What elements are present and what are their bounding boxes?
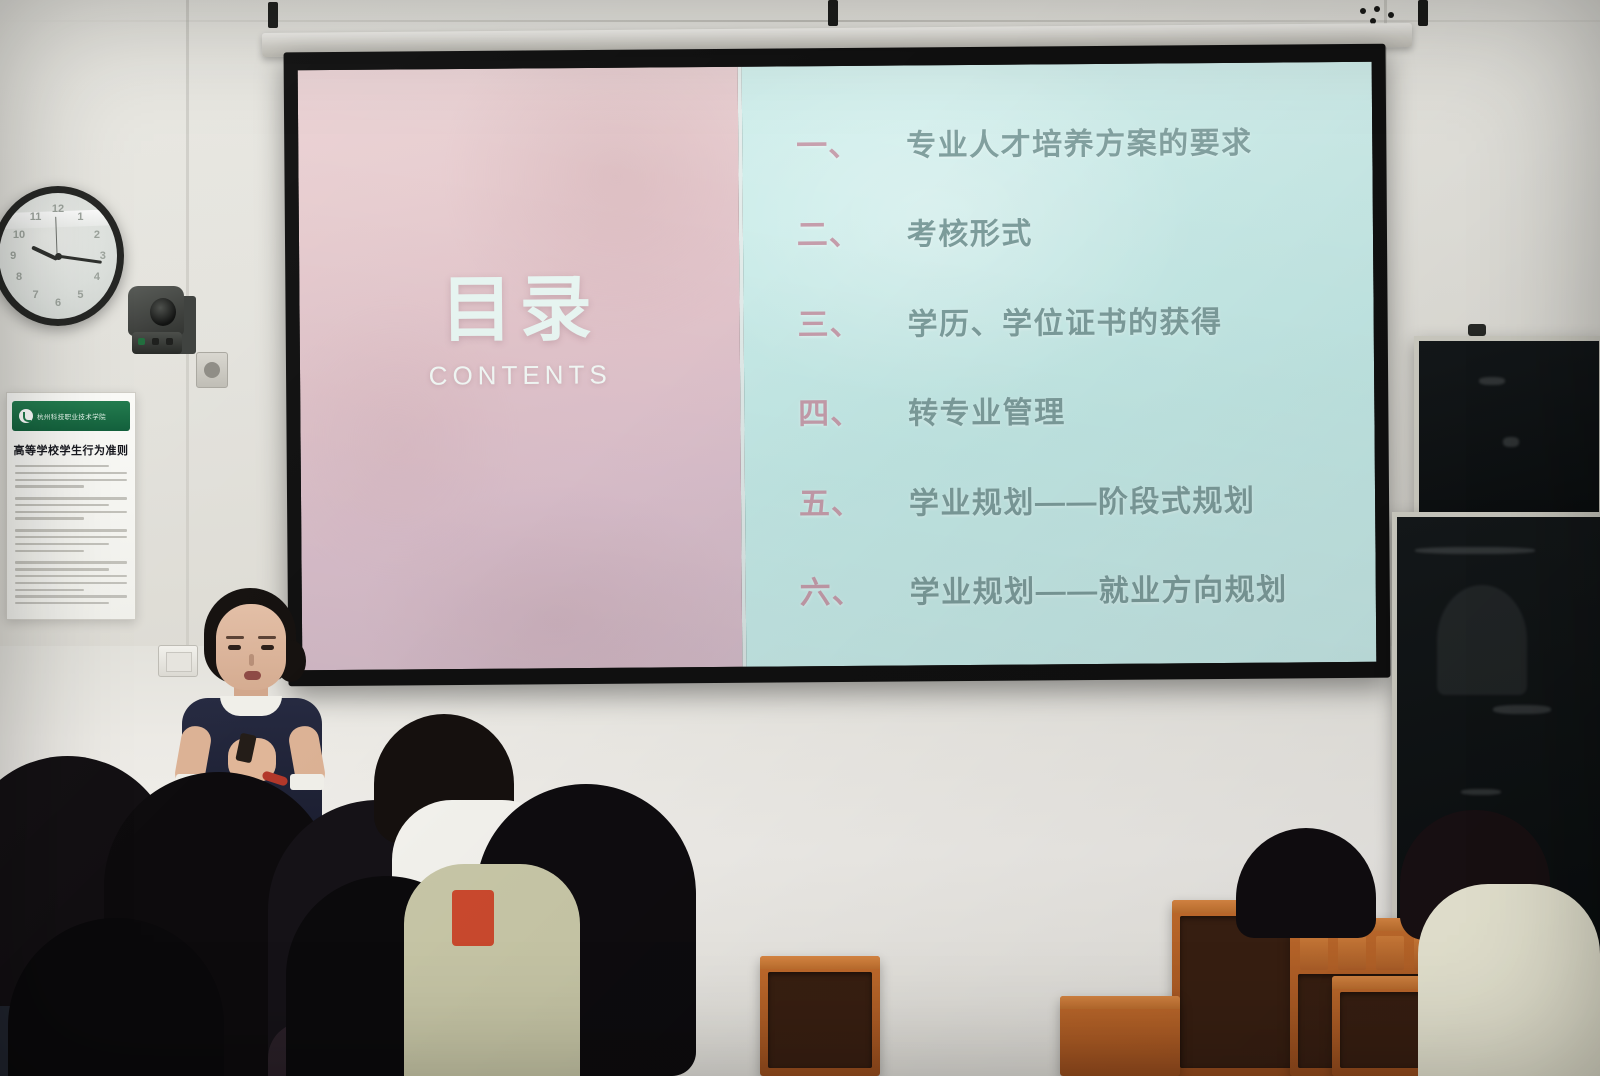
toc-item-number: 五、 xyxy=(799,477,903,523)
clock-number: 8 xyxy=(16,271,22,283)
school-logo-icon xyxy=(19,409,33,423)
blackboard-clip xyxy=(1468,324,1486,336)
slide-title-block: 目录 CONTENTS xyxy=(299,272,740,392)
projected-slide: 目录 CONTENTS 一、 专业人才培养方案的要求 二、 考核形式 xyxy=(298,62,1377,670)
classroom-photo: 12 1 2 3 4 5 6 7 8 9 10 11 杭州科技职业技术学院 高等 xyxy=(0,0,1600,1076)
toc-item: 五、 学业规划——阶段式规划 xyxy=(799,474,1350,523)
toc-item-label: 学业规划——就业方向规划 xyxy=(909,564,1287,611)
slide-left-panel: 目录 CONTENTS xyxy=(298,67,743,670)
student-desk xyxy=(1060,996,1180,1076)
student-desk xyxy=(760,956,880,1076)
screen-bracket-right xyxy=(1418,0,1428,26)
clock-hour-hand xyxy=(31,246,58,261)
camera-led xyxy=(138,338,145,345)
wall-socket[interactable] xyxy=(196,352,228,388)
clock-number: 6 xyxy=(55,297,61,309)
toc-item-number: 三、 xyxy=(797,298,901,344)
toc-item-label: 学历、学位证书的获得 xyxy=(907,297,1222,343)
poster-title: 高等学校学生行为准则 xyxy=(7,442,135,458)
presenter-face xyxy=(216,604,286,690)
audience-member xyxy=(1236,828,1376,938)
toc-item: 四、 转专业管理 xyxy=(798,384,1349,433)
toc-item: 二、 考核形式 xyxy=(797,205,1348,254)
clock-minute-hand xyxy=(58,255,102,264)
clock-center-pin xyxy=(55,253,62,260)
toc-item-number: 六、 xyxy=(799,566,903,612)
audience-member xyxy=(1418,884,1600,1076)
clock-number: 9 xyxy=(10,250,16,262)
clock-number: 2 xyxy=(94,229,100,241)
wall-poster: 杭州科技职业技术学院 高等学校学生行为准则 xyxy=(6,392,136,620)
toc-item-number: 一、 xyxy=(796,119,900,165)
toc-item-label: 转专业管理 xyxy=(908,387,1066,432)
screen-bracket-left xyxy=(268,2,278,28)
slide-title-cn: 目录 xyxy=(299,272,740,347)
toc-item: 三、 学历、学位证书的获得 xyxy=(797,295,1348,344)
toc-item: 一、 专业人才培养方案的要求 xyxy=(796,116,1347,165)
camera-led xyxy=(152,338,159,345)
slide-contents-list: 一、 专业人才培养方案的要求 二、 考核形式 三、 学历、学位证书的获得 四、 … xyxy=(796,116,1351,612)
slide-title-en: CONTENTS xyxy=(300,358,741,392)
slide-right-panel: 一、 专业人才培养方案的要求 二、 考核形式 三、 学历、学位证书的获得 四、 … xyxy=(742,62,1376,667)
audience-member xyxy=(8,918,224,1076)
camera-lens-icon xyxy=(150,298,176,326)
toc-item-number: 四、 xyxy=(798,388,902,434)
camera-led xyxy=(166,338,173,345)
toc-item-label: 考核形式 xyxy=(907,209,1033,254)
clock-number: 11 xyxy=(30,211,42,223)
clock-number: 12 xyxy=(52,203,64,215)
clock-number: 5 xyxy=(77,289,83,301)
toc-item-label: 学业规划——阶段式规划 xyxy=(909,475,1256,522)
ptz-camera xyxy=(128,286,190,364)
poster-body xyxy=(7,458,135,604)
clock-number: 1 xyxy=(77,211,83,223)
toc-item-number: 二、 xyxy=(797,209,901,255)
poster-banner-text: 杭州科技职业技术学院 xyxy=(37,411,106,421)
toc-item: 六、 学业规划——就业方向规划 xyxy=(799,563,1350,612)
poster-banner: 杭州科技职业技术学院 xyxy=(12,401,130,431)
screen-bracket-center xyxy=(828,0,838,26)
projection-screen: 目录 CONTENTS 一、 专业人才培养方案的要求 二、 考核形式 xyxy=(284,44,1391,687)
camera-body xyxy=(128,286,184,336)
toc-item-label: 专业人才培养方案的要求 xyxy=(906,118,1253,165)
clock-number: 4 xyxy=(94,271,100,283)
book-on-desk xyxy=(452,890,494,946)
clock-number: 10 xyxy=(13,229,25,241)
clock-number: 7 xyxy=(33,289,39,301)
